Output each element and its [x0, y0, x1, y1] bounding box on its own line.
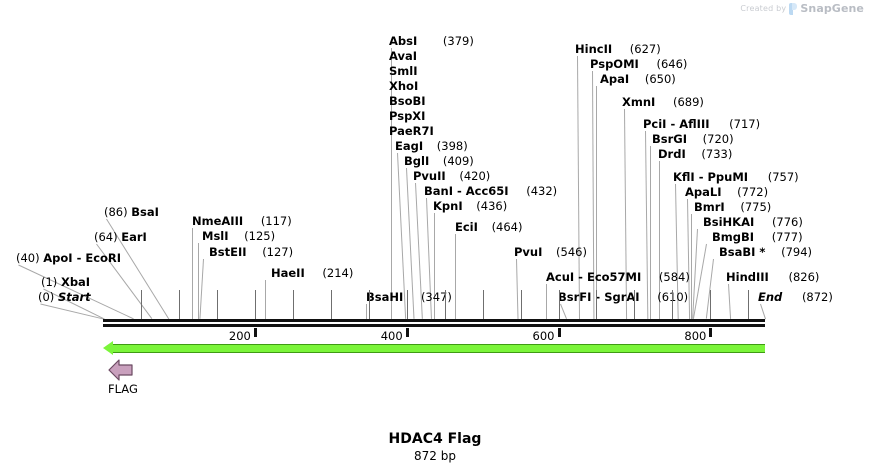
ruler-tick-mark-600 [558, 328, 561, 337]
enzyme-position: (584) [659, 270, 690, 284]
enzyme-label-msli[interactable]: MslI (125) [202, 230, 275, 242]
ruler-gridline [672, 290, 673, 319]
enzyme-name: XbaI [61, 275, 90, 289]
enzyme-name: KflI - PpuMI [673, 170, 748, 184]
enzyme-position: (733) [701, 147, 732, 161]
enzyme-name: AbsI [389, 34, 417, 48]
enzyme-label-paer7i[interactable]: PaeR7I [389, 125, 434, 137]
flag-feature-label[interactable]: FLAG [108, 382, 138, 396]
enzyme-name: End [758, 290, 782, 304]
enzyme-label-eagi[interactable]: EagI (398) [395, 140, 468, 152]
cds-feature-arrow-body[interactable] [113, 344, 765, 353]
enzyme-label-eari[interactable]: (64) EarI [94, 231, 147, 243]
enzyme-name: ApoI - EcoRI [43, 251, 121, 265]
enzyme-label-bmgbi[interactable]: BmgBI (777) [712, 231, 803, 243]
enzyme-name: BsaI [131, 205, 159, 219]
enzyme-label-bsabi[interactable]: BsaBI * (794) [719, 246, 812, 258]
enzyme-name: PspOMI [590, 57, 639, 71]
enzyme-label-bgli[interactable]: BglI (409) [404, 155, 474, 167]
enzyme-position: (1) [41, 275, 61, 289]
ruler-gridline [407, 290, 408, 319]
enzyme-label-bani-acc65i[interactable]: BanI - Acc65I (432) [424, 185, 557, 197]
enzyme-name: EarI [121, 230, 147, 244]
ruler-gridline [710, 290, 711, 319]
enzyme-name: PvuII [413, 169, 446, 183]
watermark-created-by: Created by [740, 4, 786, 13]
watermark-brand: SnapGene [800, 2, 864, 15]
enzyme-label-pcii-afliii[interactable]: PciI - AflIII (717) [643, 118, 760, 130]
ruler-gridline [559, 290, 560, 319]
enzyme-position: (757) [768, 170, 799, 184]
enzyme-position: (627) [630, 42, 661, 56]
ruler-gridline [255, 290, 256, 319]
enzyme-label-xmni[interactable]: XmnI (689) [622, 96, 704, 108]
leader-line [560, 304, 567, 319]
enzyme-label-nmeaiii[interactable]: NmeAIII (117) [192, 215, 292, 227]
enzyme-label-bsobi[interactable]: BsoBI [389, 95, 426, 107]
enzyme-label-bsrgi[interactable]: BsrGI (720) [652, 133, 734, 145]
enzyme-label-pvui[interactable]: PvuI (546) [514, 246, 587, 258]
ruler-tick-label-200: 200 [221, 329, 251, 343]
cds-feature-arrow-head[interactable] [103, 341, 113, 355]
enzyme-position: (646) [656, 57, 687, 71]
flag-feature-arrow[interactable] [108, 357, 140, 383]
enzyme-position: (826) [788, 270, 819, 284]
leader-line [624, 109, 627, 319]
enzyme-name: ApaLI [685, 185, 722, 199]
sequence-map-canvas: Created by SnapGene AbsI (379)AvaISmlIXh… [0, 0, 870, 471]
ruler-gridline [748, 290, 749, 319]
enzyme-position: (720) [703, 132, 734, 146]
ruler-bar [103, 319, 765, 322]
enzyme-name: BstEII [209, 245, 247, 259]
enzyme-label-bsihkai[interactable]: BsiHKAI (776) [703, 216, 803, 228]
enzyme-name: BsoBI [389, 94, 426, 108]
ruler-tick-label-800: 800 [676, 329, 706, 343]
ruler-tick-mark-400 [406, 328, 409, 337]
enzyme-name: PaeR7I [389, 124, 434, 138]
enzyme-name: EciI [455, 220, 478, 234]
enzyme-position: (775) [740, 200, 771, 214]
leader-line [366, 304, 367, 319]
enzyme-position: (650) [645, 72, 676, 86]
enzyme-label-hincii[interactable]: HincII (627) [575, 43, 661, 55]
enzyme-label-kfli-ppumi[interactable]: KflI - PpuMI (757) [673, 171, 799, 183]
leader-line [728, 284, 731, 319]
enzyme-name: PvuI [514, 245, 542, 259]
enzyme-name: HindIII [726, 270, 769, 284]
enzyme-name: PciI - AflIII [643, 117, 710, 131]
enzyme-name: BsrFI - SgrAI [558, 290, 640, 304]
ruler-gridline [445, 290, 446, 319]
enzyme-position: (772) [737, 185, 768, 199]
enzyme-name: HincII [575, 42, 612, 56]
enzyme-name: KpnI [433, 199, 463, 213]
enzyme-name: BsiHKAI [703, 215, 754, 229]
enzyme-label-apali[interactable]: ApaLI (772) [685, 186, 768, 198]
ruler-tick-label-400: 400 [373, 329, 403, 343]
ruler-gridline [331, 290, 332, 319]
enzyme-label-avai[interactable]: AvaI [389, 50, 417, 62]
enzyme-position: (379) [443, 34, 474, 48]
ruler-tick-mark-200 [254, 328, 257, 337]
enzyme-position: (409) [443, 154, 474, 168]
enzyme-label-pspxi[interactable]: PspXI [389, 110, 425, 122]
ruler-gridline [179, 290, 180, 319]
enzyme-name: XhoI [389, 79, 418, 93]
enzyme-name: ApaI [600, 72, 629, 86]
leader-line [198, 243, 199, 319]
enzyme-label-pspomi[interactable]: PspOMI (646) [590, 58, 687, 70]
enzyme-label-xbai[interactable]: (1) XbaI [41, 276, 90, 288]
ruler-tick-label-600: 600 [525, 329, 555, 343]
enzyme-label-xhoi[interactable]: XhoI [389, 80, 418, 92]
enzyme-label-absi[interactable]: AbsI (379) [389, 35, 474, 47]
enzyme-name: BanI - Acc65I [424, 184, 509, 198]
enzyme-position: (776) [772, 215, 803, 229]
enzyme-position: (214) [322, 266, 353, 280]
enzyme-name: SmlI [389, 64, 418, 78]
enzyme-name: EagI [395, 139, 423, 153]
enzyme-label-end[interactable]: End (872) [758, 291, 833, 303]
enzyme-name: BsaHI [366, 290, 403, 304]
leader-line [546, 284, 547, 319]
enzyme-position: (689) [673, 95, 704, 109]
enzyme-label-bsrfi-sgrai[interactable]: BsrFI - SgrAI (610) [558, 291, 688, 303]
enzyme-label-bsahi[interactable]: BsaHI (347) [366, 291, 452, 303]
enzyme-position: (86) [104, 205, 131, 219]
enzyme-label-apai[interactable]: ApaI (650) [600, 73, 676, 85]
enzyme-label-hindiii[interactable]: HindIII (826) [726, 271, 819, 283]
enzyme-position: (125) [244, 229, 275, 243]
leader-line [516, 259, 519, 319]
ruler-gridline [483, 290, 484, 319]
enzyme-position: (420) [459, 169, 490, 183]
enzyme-position: (347) [421, 290, 452, 304]
leader-line [455, 234, 456, 319]
enzyme-position: (872) [802, 290, 833, 304]
enzyme-label-haeii[interactable]: HaeII (214) [271, 267, 353, 279]
enzyme-name: Start [58, 290, 91, 304]
snapgene-logo-icon [789, 3, 797, 15]
sequence-length-label: 872 bp [0, 449, 870, 463]
ruler-gridline [217, 290, 218, 319]
ruler-gridline [369, 290, 370, 319]
enzyme-name: BmgBI [712, 230, 754, 244]
enzyme-name: DrdI [658, 147, 686, 161]
ruler-bar [103, 324, 765, 327]
page-title: HDAC4 Flag [0, 431, 870, 447]
leader-line [192, 228, 193, 319]
enzyme-position: (432) [526, 184, 557, 198]
ruler-tick-mark-800 [709, 328, 712, 337]
enzyme-label-acui-eco57mi[interactable]: AcuI - Eco57MI (584) [546, 271, 690, 283]
enzyme-name: NmeAIII [192, 214, 243, 228]
enzyme-label-apoi-ecori[interactable]: (40) ApoI - EcoRI [16, 252, 121, 264]
ruler-gridline [521, 290, 522, 319]
enzyme-position: (436) [476, 199, 507, 213]
ruler-gridline [634, 290, 635, 319]
enzyme-position: (0) [38, 290, 58, 304]
enzyme-position: (777) [772, 230, 803, 244]
enzyme-label-bsai[interactable]: (86) BsaI [104, 206, 159, 218]
leader-line [199, 259, 204, 319]
ruler-gridline [141, 290, 142, 319]
enzyme-name: BsrGI [652, 132, 687, 146]
enzyme-label-kpni[interactable]: KpnI (436) [433, 200, 507, 212]
enzyme-position: (546) [556, 245, 587, 259]
enzyme-position: (398) [437, 139, 468, 153]
enzyme-position: (127) [262, 245, 293, 259]
enzyme-position: (40) [16, 251, 43, 265]
enzyme-position: (117) [261, 214, 292, 228]
enzyme-name: BmrI [694, 200, 725, 214]
enzyme-name: PspXI [389, 109, 425, 123]
leader-line [596, 86, 597, 319]
enzyme-label-drdi[interactable]: DrdI (733) [658, 148, 732, 160]
enzyme-name: MslI [202, 229, 229, 243]
leader-line [265, 280, 266, 319]
enzyme-position: (794) [781, 245, 812, 259]
enzyme-position: (717) [729, 117, 760, 131]
enzyme-label-ecii[interactable]: EciI (464) [455, 221, 523, 233]
enzyme-label-smli[interactable]: SmlI [389, 65, 418, 77]
enzyme-label-bmri[interactable]: BmrI (775) [694, 201, 771, 213]
enzyme-label-pvuii[interactable]: PvuII (420) [413, 170, 490, 182]
ruler-gridline [293, 290, 294, 319]
enzyme-name: HaeII [271, 266, 305, 280]
enzyme-name: BglI [404, 154, 429, 168]
leader-line [760, 304, 766, 319]
enzyme-name: BsaBI * [719, 245, 765, 259]
enzyme-label-bsteii[interactable]: BstEII (127) [209, 246, 293, 258]
enzyme-position: (464) [492, 220, 523, 234]
enzyme-position: (64) [94, 230, 121, 244]
leader-line [40, 304, 103, 320]
enzyme-name: XmnI [622, 95, 655, 109]
enzyme-name: AcuI - Eco57MI [546, 270, 641, 284]
enzyme-name: AvaI [389, 49, 417, 63]
enzyme-label-start[interactable]: (0) Start [38, 291, 91, 303]
ruler-gridline [596, 290, 597, 319]
snapgene-watermark: Created by SnapGene [740, 2, 864, 15]
